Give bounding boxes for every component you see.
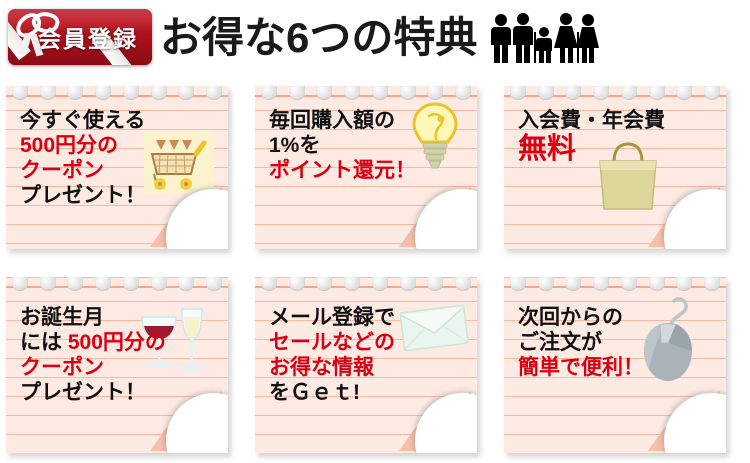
perforation-hole — [621, 277, 637, 291]
benefit-line: お得な情報 — [269, 355, 469, 380]
perforation-hole — [344, 86, 360, 100]
perforation-hole — [67, 86, 83, 100]
benefit-line: 入会費・年会費 — [518, 108, 718, 133]
perforation-hole — [621, 86, 637, 100]
perforation-hole — [372, 86, 388, 100]
benefit-line-part: には — [20, 331, 68, 354]
paper-perforations — [510, 277, 720, 293]
benefit-text-block: お誕生月 には 500円分の クーポン プレゼント！ — [20, 305, 220, 405]
paper-perforations — [12, 86, 222, 102]
perforation-hole — [565, 277, 581, 291]
perforation-hole — [510, 86, 526, 100]
page-header: 会員登録 お得な6つの特典 — [0, 0, 750, 78]
benefit-line: セールなどの — [269, 330, 469, 355]
benefit-line: 今すぐ使える — [20, 108, 220, 133]
benefit-text-block: 今すぐ使える 500円分の クーポン プレゼント！ — [20, 108, 220, 208]
page-title: お得な6つの特典 — [160, 4, 477, 65]
benefit-line: メール登録で — [269, 305, 469, 330]
benefit-line: クーポン — [20, 158, 220, 183]
benefit-text-block: 次回からの ご注文が 簡単で便利！ — [518, 305, 718, 380]
perforation-hole — [565, 86, 581, 100]
benefit-line: ポイント還元！ — [269, 158, 469, 183]
paper-perforations — [12, 277, 222, 293]
paper-perforations — [261, 277, 471, 293]
perforation-hole — [400, 277, 416, 291]
benefit-line: 500円分の — [20, 133, 220, 158]
perforation-hole — [151, 86, 167, 100]
benefit-line: ご注文が — [518, 330, 718, 355]
perforation-hole — [455, 277, 471, 291]
benefit-card-coupon-now[interactable]: 今すぐ使える 500円分の クーポン プレゼント！ — [6, 86, 228, 249]
benefit-card-point-return[interactable]: 毎回購入額の 1%を ポイント還元！ — [255, 86, 477, 249]
benefit-line-part: 500円分の — [68, 331, 166, 354]
perforation-hole — [649, 277, 665, 291]
benefit-line: クーポン — [20, 355, 220, 380]
perforation-hole — [12, 277, 28, 291]
perforation-hole — [372, 277, 388, 291]
benefit-text-block: 入会費・年会費 無料 — [518, 108, 718, 166]
perforation-hole — [151, 277, 167, 291]
perforation-hole — [40, 277, 56, 291]
perforation-hole — [261, 86, 277, 100]
perforation-hole — [95, 277, 111, 291]
perforation-hole — [538, 86, 554, 100]
perforation-hole — [12, 86, 28, 100]
perforation-hole — [67, 277, 83, 291]
perforation-hole — [95, 86, 111, 100]
benefit-line-mixed: には 500円分の — [20, 330, 220, 355]
perforation-hole — [538, 277, 554, 291]
perforation-hole — [123, 277, 139, 291]
perforation-hole — [178, 86, 194, 100]
perforation-hole — [676, 277, 692, 291]
perforation-hole — [344, 277, 360, 291]
perforation-hole — [40, 86, 56, 100]
family-pictogram-icon — [489, 12, 599, 64]
benefit-card-easy-reorder[interactable]: 次回からの ご注文が 簡単で便利！ — [504, 277, 726, 453]
perforation-hole — [316, 86, 332, 100]
benefit-text-block: 毎回購入額の 1%を ポイント還元！ — [269, 108, 469, 183]
benefit-text-block: メール登録で セールなどの お得な情報 をＧｅｔ! — [269, 305, 469, 405]
badge-label: 会員登録 — [8, 20, 152, 54]
benefit-line: 毎回購入額の — [269, 108, 469, 133]
benefit-line: 簡単で便利！ — [518, 355, 718, 380]
perforation-hole — [649, 86, 665, 100]
perforation-hole — [289, 277, 305, 291]
membership-benefits-infographic: 会員登録 お得な6つの特典 — [0, 0, 750, 463]
benefit-card-birthday-coupon[interactable]: お誕生月 には 500円分の クーポン プレゼント！ — [6, 277, 228, 453]
perforation-hole — [704, 86, 720, 100]
paper-perforations — [510, 86, 720, 102]
perforation-hole — [206, 86, 222, 100]
benefit-line: お誕生月 — [20, 305, 220, 330]
member-registration-badge: 会員登録 — [8, 9, 152, 65]
benefit-line: 次回からの — [518, 305, 718, 330]
perforation-hole — [593, 277, 609, 291]
benefit-card-mail-news[interactable]: メール登録で セールなどの お得な情報 をＧｅｔ! — [255, 277, 477, 453]
perforation-hole — [593, 86, 609, 100]
perforation-hole — [316, 277, 332, 291]
perforation-hole — [123, 86, 139, 100]
perforation-hole — [510, 277, 526, 291]
perforation-hole — [427, 277, 443, 291]
perforation-hole — [261, 277, 277, 291]
perforation-hole — [178, 277, 194, 291]
benefit-line: 1%を — [269, 133, 469, 158]
perforation-hole — [704, 277, 720, 291]
perforation-hole — [206, 277, 222, 291]
benefit-card-free-membership[interactable]: 入会費・年会費 無料 — [504, 86, 726, 249]
perforation-hole — [289, 86, 305, 100]
perforation-hole — [676, 86, 692, 100]
benefit-line: 無料 — [518, 133, 718, 166]
